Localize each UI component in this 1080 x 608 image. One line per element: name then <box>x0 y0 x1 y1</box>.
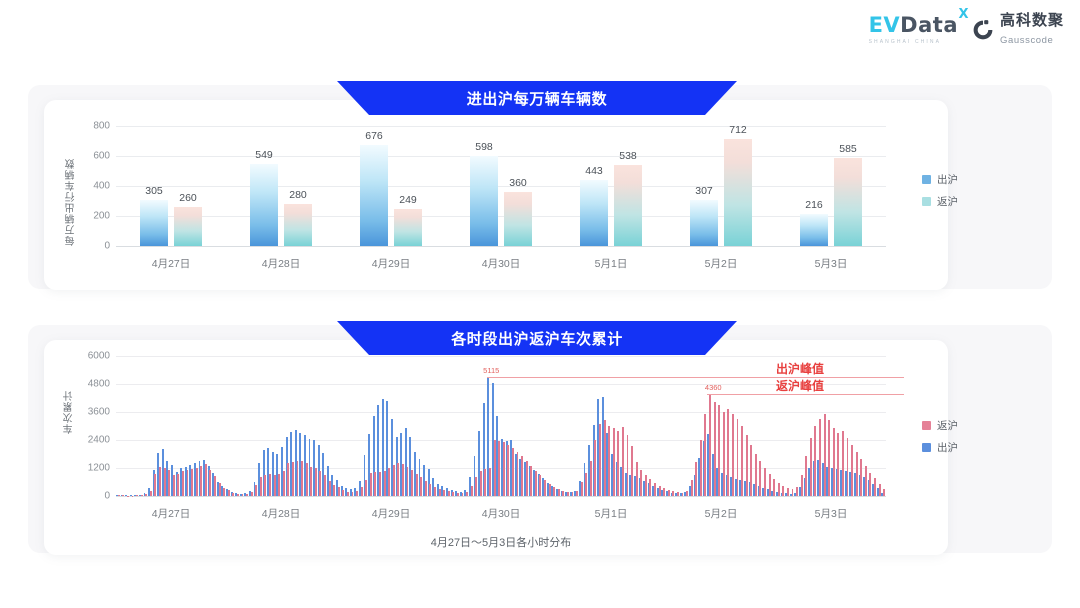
chart-2-hour-bar-ret <box>209 470 211 496</box>
chart-2-hour-bar-ret <box>833 428 835 496</box>
chart-2-hour-bar-ret <box>576 491 578 496</box>
chart-2-hour-bar-ret <box>219 483 221 496</box>
chart-2-hour-bar-ret <box>301 461 303 496</box>
chart-2-hour-bar-ret <box>489 468 491 496</box>
chart-2-hour-bar-ret <box>842 431 844 496</box>
chart-2-hour-bar-ret <box>617 431 619 496</box>
chart-2-hour-bar-ret <box>187 470 189 496</box>
chart-2-x-tick: 4月29日 <box>372 506 411 521</box>
chart-1-legend: 出沪返沪 <box>922 172 958 209</box>
chart-2-hour-bar-ret <box>425 481 427 496</box>
chart-2-hour-bar-ret <box>214 476 216 496</box>
chart-2-hour-bar-ret <box>196 468 198 496</box>
chart-1-bar-ret <box>504 192 532 246</box>
gausscode-cn: 高科数聚 <box>1000 12 1064 29</box>
chart-1-bar-ret <box>834 158 862 246</box>
chart-1-bar-ret <box>394 209 422 246</box>
chart-2-caption: 4月27日～5月3日各小时分布 <box>431 534 572 550</box>
chart-2-hour-bar-ret <box>714 402 716 497</box>
chart-2-hour-bar-ret <box>750 445 752 496</box>
chart-2-hour-bar-ret <box>764 468 766 496</box>
chart-2-hour-bar-ret <box>677 492 679 496</box>
chart-1-gridline <box>116 246 886 247</box>
chart-2-hour-bar-ret <box>471 486 473 496</box>
chart-2-hour-bar-ret <box>782 486 784 496</box>
chart-2-hour-bar-ret <box>645 475 647 496</box>
chart-2-hour-bar-ret <box>613 428 615 496</box>
chart-2-legend-item: 出沪 <box>922 440 958 455</box>
chart-2-hour-bar-ret <box>122 495 124 496</box>
chart-2-y-tick: 2400 <box>76 435 110 446</box>
chart-2-peak-line-ret <box>707 394 904 395</box>
chart-2-hour-bar-ret <box>700 440 702 496</box>
chart-2-gridline <box>116 412 886 413</box>
chart-2-hour-bar-ret <box>205 464 207 496</box>
panel-1-card: 每万辆出行车辆数02004006008003052604月27日5492804月… <box>44 100 948 290</box>
panel-2-card: 车次累计0120024003600480060004月27日4月28日4月29日… <box>44 340 948 555</box>
chart-2-hour-bar-ret <box>594 440 596 496</box>
chart-2-hour-bar-ret <box>521 456 523 496</box>
chart-1-x-tick: 4月28日 <box>262 256 301 271</box>
chart-1-bar-value: 676 <box>365 130 383 142</box>
panel-2-title-banner: 各时段出沪返沪车次累计 <box>337 321 737 355</box>
panel-1-title: 进出沪每万辆车辆数 <box>467 88 607 109</box>
chart-1-bar-value: 249 <box>399 194 417 206</box>
chart-2-hour-bar-ret <box>173 475 175 496</box>
chart-2-hour-bar-ret <box>773 479 775 496</box>
chart-2-hour-bar-ret <box>342 490 344 496</box>
chart-2-hour-bar-ret <box>860 459 862 496</box>
chart-2-hour-bar-ret <box>480 471 482 496</box>
chart-2-hour-bar-ret <box>347 492 349 496</box>
chart-2-hour-bar-ret <box>828 420 830 496</box>
chart-1-bar-value: 549 <box>255 149 273 161</box>
chart-2-hour-bar-ret <box>732 414 734 496</box>
chart-2-hour-bar-ret <box>164 468 166 496</box>
chart-2-y-tick: 4800 <box>76 379 110 390</box>
chart-2-peak-line-out <box>487 377 904 378</box>
chart-1-gridline <box>116 216 886 217</box>
gausscode-text: 高科数聚 Gausscode <box>1000 12 1064 48</box>
chart-2-hour-bar-ret <box>443 490 445 496</box>
chart-2-hour-bar-ret <box>420 477 422 496</box>
chart-2-gridline <box>116 356 886 357</box>
chart-2-hour-bar-ret <box>466 492 468 496</box>
chart-2-hour-bar-ret <box>741 426 743 496</box>
chart-2-hour-bar-ret <box>572 492 574 496</box>
chart-1-bar-ret <box>614 165 642 246</box>
chart-2-hour-bar-ret <box>544 480 546 496</box>
chart-2-hour-bar-ret <box>278 474 280 496</box>
chart-2-hour-bar-ret <box>191 469 193 496</box>
chart-2-hour-bar-ret <box>883 489 885 496</box>
chart-2-hour-bar-ret <box>585 473 587 496</box>
chart-2-hour-bar-ret <box>361 487 363 496</box>
chart-2-hour-bar-ret <box>819 419 821 496</box>
chart-2-hour-bar-ret <box>659 486 661 496</box>
chart-2-hour-bar-ret <box>824 414 826 496</box>
chart-2-hour-bar-ret <box>856 452 858 496</box>
chart-1-x-tick: 5月3日 <box>815 256 848 271</box>
chart-2-hour-bar-ret <box>484 469 486 496</box>
chart-2-x-tick: 5月1日 <box>595 506 628 521</box>
chart-2-peak-label-out: 出沪峰值 <box>776 360 824 377</box>
chart-1-legend-swatch <box>922 197 931 206</box>
chart-2-hour-bar-ret <box>264 475 266 496</box>
chart-2-gridline <box>116 384 886 385</box>
chart-1-y-tick: 400 <box>76 181 110 192</box>
chart-2-gridline <box>116 496 886 497</box>
chart-2-hour-bar-ret <box>182 471 184 496</box>
chart-2-x-tick: 5月3日 <box>815 506 848 521</box>
chart-1-bar-value: 598 <box>475 141 493 153</box>
evdata-prefix: EV <box>869 13 901 37</box>
evdata-suffix: Data <box>900 13 958 37</box>
chart-2-hour-bar-ret <box>384 471 386 496</box>
chart-2-hour-bar-ret <box>246 494 248 496</box>
chart-2-hour-bar-ret <box>686 491 688 496</box>
chart-1-bar-out <box>580 180 608 246</box>
chart-2-hour-bar-ret <box>535 471 537 496</box>
chart-2-hour-bar-ret <box>718 405 720 496</box>
chart-2-hour-bar-ret <box>274 475 276 496</box>
evdata-superscript-x: X <box>958 8 969 21</box>
chart-2-hour-bar-ret <box>723 412 725 496</box>
chart-2-y-tick: 0 <box>76 491 110 502</box>
chart-1-bar-out <box>800 214 828 246</box>
chart-2-hour-bar-ret <box>150 491 152 496</box>
chart-2-hour-bar-ret <box>562 491 564 496</box>
chart-2-hour-bar-ret <box>512 448 514 496</box>
chart-2-hour-bar-ret <box>695 462 697 496</box>
chart-1-bar-value: 307 <box>695 185 713 197</box>
chart-1-x-tick: 5月1日 <box>595 256 628 271</box>
chart-1-x-tick: 5月2日 <box>705 256 738 271</box>
chart-2-hour-bar-ret <box>448 491 450 496</box>
panel-2-title: 各时段出沪返沪车次累计 <box>451 328 623 349</box>
chart-2-hour-bar-ret <box>439 489 441 496</box>
chart-2-hour-bar-ret <box>168 470 170 496</box>
chart-2-hour-bar-ret <box>494 440 496 496</box>
chart-2-hour-bar-ret <box>627 435 629 496</box>
chart-2-hour-bar-ret <box>567 492 569 496</box>
chart-2-peak-label-ret: 返沪峰值 <box>776 377 824 394</box>
chart-2-hour-bar-ret <box>429 484 431 496</box>
chart-2-hour-bar-ret <box>549 484 551 496</box>
panel-1-title-banner: 进出沪每万辆车辆数 <box>337 81 737 115</box>
chart-2-hour-bar-ret <box>672 491 674 496</box>
chart-2-hour-bar-ret <box>397 463 399 496</box>
chart-2-hour-bar-ret <box>333 485 335 496</box>
chart-2-hour-bar-ret <box>507 445 509 496</box>
chart-1-y-tick: 200 <box>76 211 110 222</box>
chart-2-hour-bar-ret <box>223 488 225 496</box>
chart-2-hour-bar-ret <box>393 465 395 496</box>
brand-logos: EVDataX SHANGHAI CHINA 高科数聚 Gausscode <box>869 12 1064 48</box>
chart-2-hour-bar-ret <box>668 490 670 496</box>
chart-1-gridline <box>116 126 886 127</box>
chart-2-hour-bar-ret <box>228 490 230 496</box>
chart-2-hour-bar-ret <box>388 468 390 496</box>
evdata-wordmark: EVDataX <box>869 15 958 36</box>
chart-2-hour-bar-ret <box>315 468 317 496</box>
chart-2-hour-bar-ret <box>232 493 234 496</box>
chart-2-hour-bar-ret <box>682 493 684 497</box>
chart-2-plot-area: 车次累计0120024003600480060004月27日4月28日4月29日… <box>44 340 948 555</box>
evdata-tagline: SHANGHAI CHINA <box>869 39 941 45</box>
chart-2-hour-bar-ret <box>462 493 464 496</box>
chart-2-legend-item: 返沪 <box>922 418 958 433</box>
chart-1-x-tick: 4月29日 <box>372 256 411 271</box>
chart-2-hour-bar-ret <box>879 484 881 496</box>
chart-2-hour-bar-ret <box>869 473 871 496</box>
chart-2-hour-bar-ret <box>338 487 340 496</box>
chart-2-legend-label: 返沪 <box>937 418 958 433</box>
chart-2-hour-bar-ret <box>631 446 633 496</box>
chart-2-y-tick: 3600 <box>76 407 110 418</box>
chart-2-hour-bar-ret <box>558 489 560 496</box>
chart-2-hour-bar-ret <box>865 466 867 496</box>
chart-2-hour-bar-ret <box>452 492 454 496</box>
chart-2-peak-value-ret: 4360 <box>705 383 722 392</box>
chart-2-hour-bar-ret <box>503 442 505 496</box>
chart-2-hour-bar-ret <box>434 487 436 496</box>
chart-1-legend-swatch <box>922 175 931 184</box>
chart-2-hour-bar-ret <box>746 435 748 496</box>
chart-2-x-tick: 4月27日 <box>152 506 191 521</box>
gausscode-logo: 高科数聚 Gausscode <box>972 12 1064 48</box>
chart-1-bar-value: 712 <box>729 124 747 136</box>
chart-2-hour-bar-ret <box>352 492 354 496</box>
chart-1-y-tick: 0 <box>76 241 110 252</box>
chart-2-hour-bar-ret <box>622 427 624 496</box>
chart-2-hour-bar-ret <box>759 461 761 496</box>
chart-1-bar-value: 216 <box>805 199 823 211</box>
chart-2-hour-bar-ret <box>498 441 500 496</box>
chart-2-hour-bar-ret <box>292 462 294 496</box>
chart-1-x-tick: 4月27日 <box>152 256 191 271</box>
chart-2-x-tick: 4月28日 <box>262 506 301 521</box>
chart-2-hour-bar-ret <box>416 474 418 496</box>
chart-2-legend: 返沪出沪 <box>922 418 958 455</box>
chart-2-hour-bar-ret <box>787 488 789 496</box>
chart-2-hour-bar-ret <box>604 420 606 496</box>
chart-1-x-tick: 4月30日 <box>482 256 521 271</box>
chart-2-hour-bar-ret <box>457 493 459 496</box>
chart-2-hour-bar-ret <box>379 472 381 496</box>
chart-2-hour-bar-ret <box>581 482 583 496</box>
chart-2-hour-bar-ret <box>727 409 729 497</box>
chart-2-hour-bar-ret <box>154 474 156 496</box>
chart-2-hour-bar-ret <box>242 494 244 496</box>
chart-2-x-tick: 4月30日 <box>482 506 521 521</box>
chart-2-y-tick: 1200 <box>76 463 110 474</box>
chart-1-legend-label: 返沪 <box>937 194 958 209</box>
chart-1-plot-area: 每万辆出行车辆数02004006008003052604月27日5492804月… <box>44 100 948 290</box>
chart-2-hour-bar-ret <box>704 414 706 496</box>
chart-2-hour-bar-ret <box>374 472 376 497</box>
chart-2-legend-label: 出沪 <box>937 440 958 455</box>
chart-1-legend-item: 出沪 <box>922 172 958 187</box>
evdata-logo: EVDataX SHANGHAI CHINA <box>869 15 958 45</box>
chart-2-hour-bar-ret <box>539 475 541 496</box>
chart-2-legend-swatch <box>922 443 931 452</box>
chart-1-bar-ret <box>284 204 312 246</box>
chart-1-bar-value: 305 <box>145 185 163 197</box>
chart-2-hour-bar-ret <box>526 461 528 496</box>
chart-2-hour-bar-ret <box>255 485 257 496</box>
chart-2-hour-bar-ret <box>801 475 803 496</box>
chart-1-bar-out <box>140 200 168 246</box>
chart-2-hour-bar-ret <box>356 491 358 496</box>
chart-1-y-tick: 600 <box>76 151 110 162</box>
chart-2-hour-bar-ret <box>608 426 610 496</box>
chart-1-bar-ret <box>724 139 752 246</box>
chart-1-bar-value: 443 <box>585 165 603 177</box>
chart-2-hour-bar-ret <box>654 483 656 496</box>
chart-2-x-tick: 5月2日 <box>705 506 738 521</box>
chart-2-hour-bar-ret <box>159 467 161 496</box>
chart-2-hour-bar-ret <box>517 452 519 496</box>
chart-2-hour-bar-ret <box>402 464 404 496</box>
chart-2-hour-bar-ret <box>287 463 289 496</box>
chart-2-hour-bar-ret <box>769 474 771 496</box>
chart-1-bar-out <box>360 145 388 246</box>
chart-2-hour-bar-ret <box>297 461 299 496</box>
chart-1-gridline <box>116 156 886 157</box>
chart-2-hour-bar-ret <box>177 474 179 496</box>
chart-1-bar-value: 360 <box>509 177 527 189</box>
chart-2-hour-bar-ret <box>145 494 147 496</box>
chart-2-hour-bar-ret <box>636 462 638 496</box>
chart-2-hour-bar-ret <box>847 438 849 496</box>
chart-2-hour-bar-ret <box>810 438 812 496</box>
chart-2-hour-bar-ret <box>370 473 372 496</box>
chart-2-hour-bar-ret <box>640 470 642 496</box>
chart-2-hour-bar-ret <box>590 461 592 496</box>
chart-2-hour-bar-ret <box>792 489 794 496</box>
gausscode-en: Gausscode <box>1000 35 1053 46</box>
chart-2-peak-value-out: 5115 <box>483 366 499 375</box>
chart-2-hour-bar-ret <box>306 463 308 496</box>
chart-2-hour-bar-ret <box>709 394 711 496</box>
chart-2-hour-bar-ret <box>141 495 143 496</box>
chart-2-hour-bar-ret <box>530 466 532 496</box>
chart-2-hour-bar-ret <box>737 419 739 496</box>
chart-2-hour-bar-ret <box>475 477 477 496</box>
chart-2-hour-bar-ret <box>411 470 413 496</box>
chart-2-y-tick: 6000 <box>76 351 110 362</box>
chart-1-bar-value: 585 <box>839 143 857 155</box>
gausscode-mark-icon <box>972 19 994 41</box>
chart-2-hour-bar-ret <box>553 487 555 496</box>
chart-2-hour-bar-ret <box>310 467 312 496</box>
chart-2-hour-bar-ret <box>136 495 138 496</box>
chart-1-bar-out <box>470 156 498 246</box>
chart-2-hour-bar-ret <box>874 478 876 496</box>
chart-2-hour-bar-ret <box>324 475 326 496</box>
chart-2-hour-bar-ret <box>283 471 285 496</box>
chart-2-hour-bar-ret <box>599 424 601 496</box>
chart-2-hour-bar-ret <box>796 487 798 496</box>
slide-root: EVDataX SHANGHAI CHINA 高科数聚 Gausscode 每万… <box>0 0 1080 608</box>
chart-2-hour-bar-ret <box>200 466 202 496</box>
chart-2-hour-bar-ret <box>851 445 853 496</box>
chart-1-bar-value: 538 <box>619 150 637 162</box>
chart-2-hour-bar-ret <box>663 488 665 496</box>
chart-2-hour-bar-ret <box>251 492 253 496</box>
chart-1-legend-item: 返沪 <box>922 194 958 209</box>
chart-2-hour-bar-ret <box>260 477 262 496</box>
chart-2-hour-bar-ret <box>118 495 120 496</box>
chart-2-hour-bar-ret <box>329 481 331 496</box>
chart-2-hour-bar-ret <box>319 471 321 496</box>
chart-2-hour-bar-ret <box>755 454 757 496</box>
chart-1-bar-out <box>690 200 718 246</box>
chart-2-hour-bar-ret <box>778 483 780 496</box>
chart-1-bar-value: 280 <box>289 189 307 201</box>
chart-1-legend-label: 出沪 <box>937 172 958 187</box>
chart-2-hour-bar-ret <box>407 467 409 496</box>
chart-1-bar-out <box>250 164 278 246</box>
chart-2-y-axis-label: 车次累计 <box>62 390 77 434</box>
chart-2-hour-bar-ret <box>814 426 816 496</box>
chart-2-hour-bar-ret <box>269 474 271 496</box>
chart-2-legend-swatch <box>922 421 931 430</box>
chart-2-hour-bar-ret <box>237 494 239 496</box>
chart-1-bar-ret <box>174 207 202 246</box>
chart-2-hour-bar-ret <box>805 456 807 496</box>
chart-2-hour-bar-ret <box>691 480 693 496</box>
chart-1-bar-value: 260 <box>179 192 197 204</box>
chart-2-hour-bar-ret <box>837 433 839 496</box>
chart-2-hour-bar-ret <box>365 480 367 496</box>
chart-1-gridline <box>116 186 886 187</box>
chart-1-y-tick: 800 <box>76 121 110 132</box>
chart-2-hour-bar-ret <box>649 479 651 496</box>
